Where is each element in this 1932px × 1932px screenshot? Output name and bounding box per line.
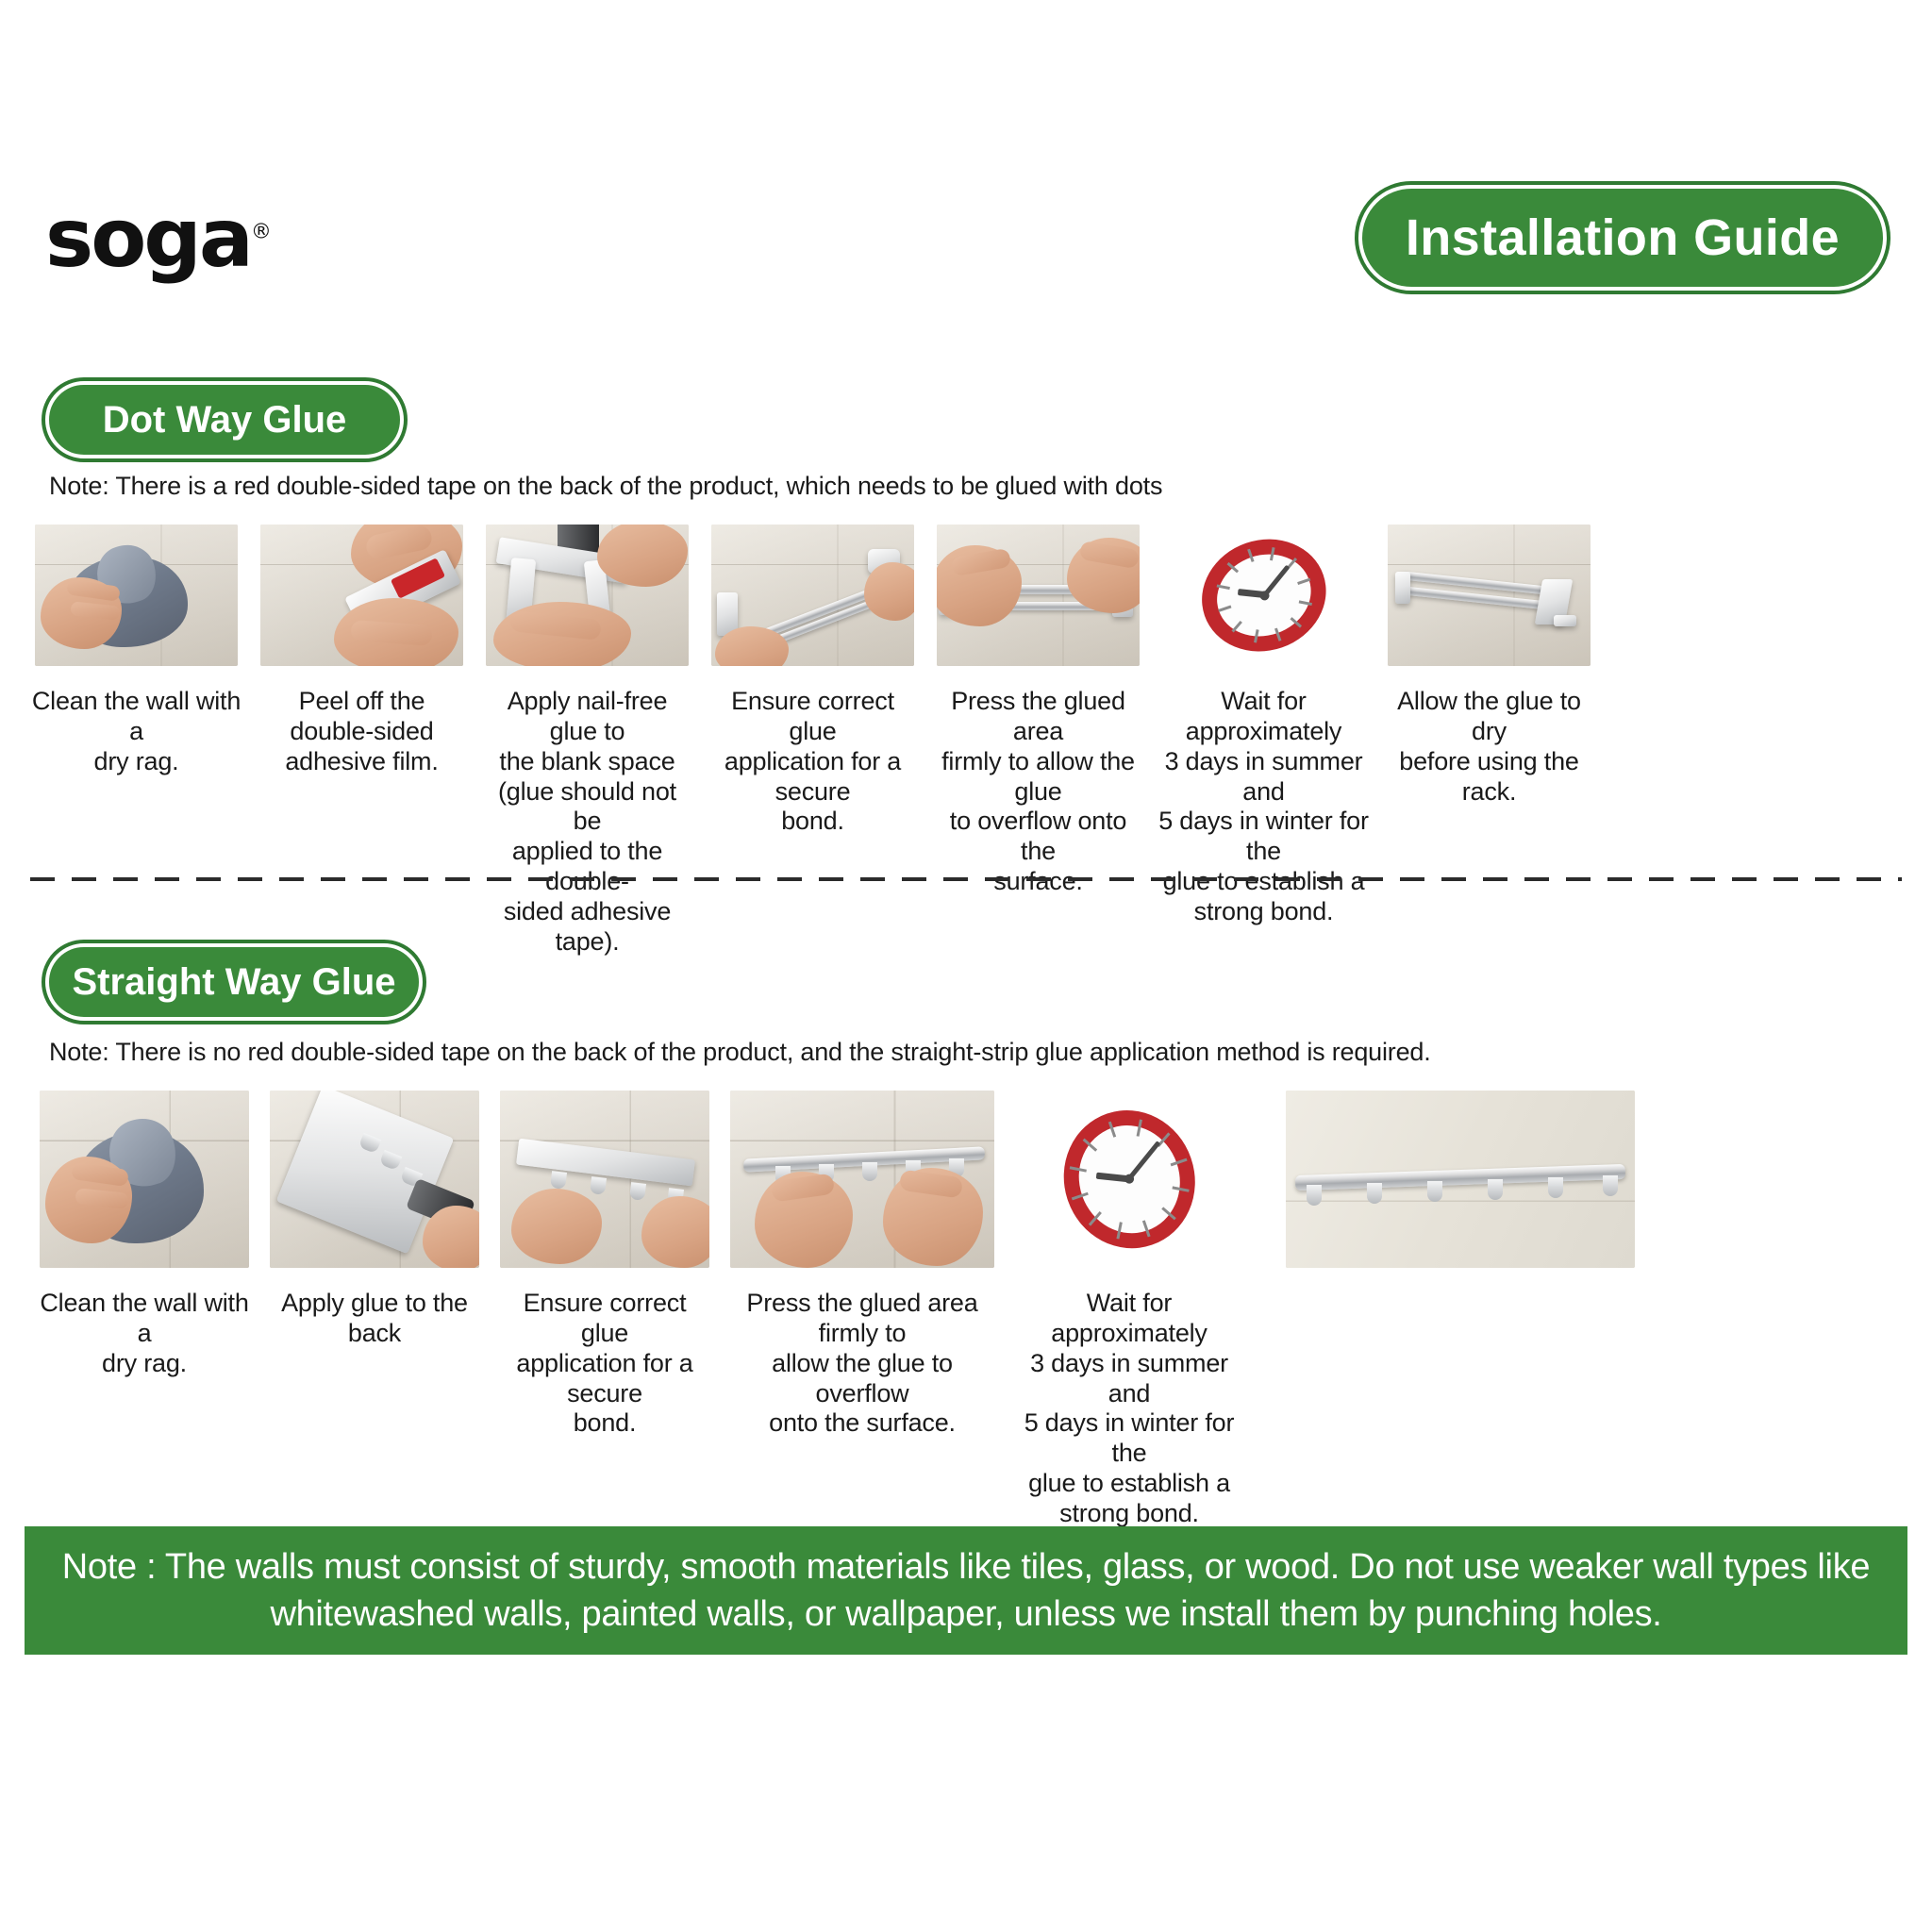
brand-name: soga (45, 192, 251, 286)
clock-icon (1186, 525, 1341, 666)
footer-warning-note: Note : The walls must consist of sturdy,… (25, 1526, 1907, 1655)
soga-logo: soga® (45, 198, 272, 279)
step-photo-ensure-application (500, 1091, 709, 1268)
steps-row-straight-way-glue: Clean the wall with adry rag. Apply glue… (36, 1091, 1640, 1529)
section-badge-label: Straight Way Glue (45, 943, 423, 1021)
step-item: Apply nail-free glue tothe blank space(g… (481, 525, 693, 958)
footer-note-text: Note : The walls must consist of sturdy,… (58, 1543, 1874, 1638)
step-photo-apply-glue-back (270, 1091, 479, 1268)
step-item: Wait for approximately3 days in summer a… (1158, 525, 1370, 927)
step-caption: Apply nail-free glue tothe blank space(g… (481, 687, 693, 958)
step-photo-installed-rack (1388, 525, 1591, 666)
step-caption: Clean the wall with adry rag. (30, 687, 242, 777)
step-caption: Press the glued area firmly toallow the … (726, 1289, 998, 1439)
installation-guide-page: soga® Installation Guide Dot Way Glue No… (0, 0, 1932, 1932)
step-photo-wait-clock (1024, 1091, 1234, 1268)
step-caption: Wait for approximately3 days in summer a… (1158, 687, 1370, 927)
step-item: Wait for approximately3 days in summer a… (1011, 1091, 1247, 1529)
section-note-dot-way-glue: Note: There is a red double-sided tape o… (49, 472, 1162, 501)
step-item: Ensure correct glueapplication for a sec… (496, 1091, 713, 1439)
step-item: Press the glued area firmly toallow the … (726, 1091, 998, 1439)
step-photo-ensure-application (711, 525, 914, 666)
step-item: Peel off the double-sidedadhesive film. (256, 525, 468, 777)
registered-mark: ® (251, 220, 272, 243)
section-badge-label: Dot Way Glue (45, 381, 404, 458)
clock-icon (1045, 1092, 1213, 1265)
step-item: Clean the wall with adry rag. (36, 1091, 253, 1379)
section-note-straight-way-glue: Note: There is no red double-sided tape … (49, 1038, 1431, 1067)
step-photo-clean-wall (40, 1091, 249, 1268)
step-item: Clean the wall with adry rag. (30, 525, 242, 777)
step-photo-peel-film (260, 525, 463, 666)
step-caption: Allow the glue to drybefore using the ra… (1383, 687, 1595, 807)
step-photo-installed-hook-rail (1286, 1091, 1635, 1268)
step-photo-press-rail (730, 1091, 994, 1268)
step-caption: Press the glued areafirmly to allow the … (932, 687, 1144, 897)
step-item: Allow the glue to drybefore using the ra… (1383, 525, 1595, 807)
section-badge-straight-way-glue: Straight Way Glue (45, 943, 423, 1021)
step-photo-clean-wall (35, 525, 238, 666)
step-caption: Clean the wall with adry rag. (36, 1289, 253, 1379)
step-caption: Apply glue to the back (266, 1289, 483, 1349)
step-photo-apply-glue (486, 525, 689, 666)
page-title: Installation Guide (1358, 185, 1887, 291)
section-divider (30, 877, 1902, 881)
step-photo-wait-clock (1162, 525, 1365, 666)
steps-row-dot-way-glue: Clean the wall with adry rag. Peel off t… (30, 525, 1595, 958)
step-item: Ensure correct glueapplication for a sec… (707, 525, 919, 837)
step-item: Apply glue to the back (266, 1091, 483, 1349)
step-photo-press-firmly (937, 525, 1140, 666)
page-header: soga® Installation Guide (0, 170, 1932, 321)
step-caption: Wait for approximately3 days in summer a… (1011, 1289, 1247, 1529)
step-caption: Peel off the double-sidedadhesive film. (256, 687, 468, 777)
step-item (1281, 1091, 1640, 1289)
section-badge-dot-way-glue: Dot Way Glue (45, 381, 404, 458)
step-caption: Ensure correct glueapplication for a sec… (707, 687, 919, 837)
step-item: Press the glued areafirmly to allow the … (932, 525, 1144, 897)
step-caption: Ensure correct glueapplication for a sec… (496, 1289, 713, 1439)
